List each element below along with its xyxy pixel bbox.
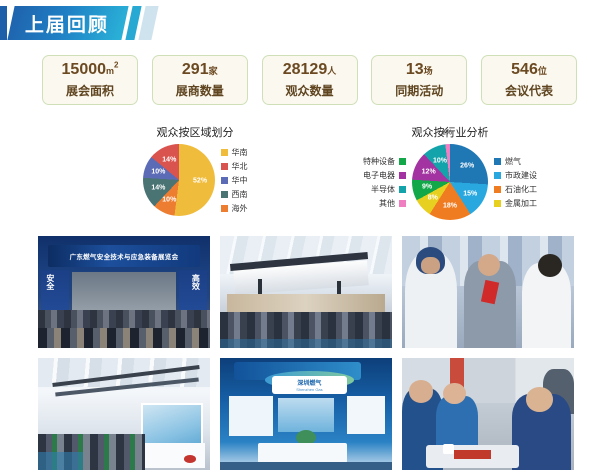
- photo-gallery: 广东燃气安全技术与应急装备展览会 安全 节 高效: [38, 236, 574, 470]
- pillar-text-right: 高效: [190, 274, 201, 290]
- legend-label: 其他: [379, 198, 395, 209]
- legend-label: 特种设备: [363, 156, 395, 167]
- legend-swatch-icon: [399, 200, 406, 207]
- chart-legend-right: 燃气市政建设石油化工金属加工: [494, 156, 537, 209]
- hall-carpet: [38, 452, 83, 470]
- stat-value: 15000m2: [62, 61, 119, 79]
- stat-value: 546位: [511, 61, 547, 79]
- chart-legend-left: 特种设备电子电器半导体其他: [363, 156, 406, 209]
- page-title: 上届回顾: [25, 10, 109, 37]
- booth-brand-sign: 深圳燃气 Shenzhen Gas: [272, 376, 348, 394]
- chart-legend: 华南华北华中西南海外: [221, 147, 248, 214]
- charts-section: 观众按区域划分 52%10%14%10%14% 华南华北华中西南海外 观众按行业…: [0, 124, 612, 232]
- legend-label: 燃气: [505, 156, 521, 167]
- legend-swatch-icon: [221, 163, 228, 170]
- booth-counter: [139, 443, 204, 468]
- stat-label: 同期活动: [395, 82, 443, 99]
- hall-carpet: [220, 339, 392, 348]
- legend-swatch-icon: [221, 205, 228, 212]
- stats-row: 15000m2 展会面积 291家 展商数量 28129人 观众数量 13场 同…: [42, 55, 577, 105]
- legend-item[interactable]: 电子电器: [363, 170, 406, 181]
- stat-value: 13场: [406, 61, 433, 79]
- photo-business-meeting[interactable]: [402, 358, 574, 470]
- pie-slice-label: 15%: [463, 190, 477, 197]
- stat-label: 展会面积: [66, 82, 114, 99]
- legend-item[interactable]: 石油化工: [494, 184, 537, 195]
- pie-slice-label: 14%: [151, 184, 165, 191]
- legend-label: 电子电器: [363, 170, 395, 181]
- chart-body: 52%10%14%10%14% 华南华北华中西南海外: [100, 144, 290, 216]
- legend-item[interactable]: 华南: [221, 147, 248, 158]
- entrance-banner: 广东燃气安全技术与应急装备展览会: [48, 245, 199, 267]
- stat-unit: 家: [209, 66, 218, 76]
- legend-item[interactable]: 华北: [221, 161, 248, 172]
- legend-swatch-icon: [399, 158, 406, 165]
- stat-label: 观众数量: [285, 82, 333, 99]
- legend-item[interactable]: 特种设备: [363, 156, 406, 167]
- photo-hall-truss-booth[interactable]: [220, 236, 392, 348]
- header-title-plate: 上届回顾: [7, 6, 128, 40]
- stat-card-exhibition-area: 15000m2 展会面积: [42, 55, 138, 105]
- legend-swatch-icon: [221, 177, 228, 184]
- meeting-brochure: [454, 450, 492, 459]
- photo-visitors-talking[interactable]: [402, 236, 574, 348]
- legend-label: 华中: [232, 175, 248, 186]
- legend-item[interactable]: 其他: [379, 198, 406, 209]
- legend-item[interactable]: 华中: [221, 175, 248, 186]
- legend-swatch-icon: [221, 191, 228, 198]
- pie-chart: 26%15%18%8%9%12%10%2%: [412, 144, 488, 220]
- stat-label: 展商数量: [176, 82, 224, 99]
- photo-bright-hall-booth[interactable]: [38, 358, 210, 470]
- legend-label: 金属加工: [505, 198, 537, 209]
- legend-item[interactable]: 海外: [221, 203, 248, 214]
- stat-label: 会议代表: [505, 82, 553, 99]
- legend-label: 华南: [232, 147, 248, 158]
- pie-slice-label: 18%: [443, 202, 457, 209]
- stat-card-exhibitors: 291家 展商数量: [152, 55, 248, 105]
- legend-swatch-icon: [494, 158, 501, 165]
- legend-item[interactable]: 市政建设: [494, 170, 537, 181]
- stat-card-delegates: 546位 会议代表: [481, 55, 577, 105]
- visitor-face-1: [421, 257, 440, 274]
- stat-unit: 位: [538, 66, 547, 76]
- booth-reception-counter: [258, 443, 347, 463]
- meeting-cup: [443, 444, 453, 454]
- pillar-text-left: 安全: [45, 274, 56, 290]
- pie-slice-label: 9%: [422, 184, 432, 191]
- page-header: 上届回顾: [0, 6, 155, 40]
- pie-slice-label: 26%: [460, 162, 474, 169]
- legend-item[interactable]: 西南: [221, 189, 248, 200]
- pie-slice-label: 14%: [162, 157, 176, 164]
- meeting-face-2: [443, 383, 465, 404]
- legend-item[interactable]: 燃气: [494, 156, 537, 167]
- legend-label: 西南: [232, 189, 248, 200]
- legend-swatch-icon: [494, 186, 501, 193]
- meeting-face-1: [409, 380, 433, 402]
- meeting-face-3: [526, 387, 554, 412]
- stat-card-events: 13场 同期活动: [371, 55, 467, 105]
- stat-unit: 场: [424, 66, 433, 76]
- entrance-banner-text: 广东燃气安全技术与应急装备展览会: [70, 251, 179, 261]
- legend-swatch-icon: [399, 186, 406, 193]
- booth-floor: [220, 462, 392, 470]
- legend-label: 石油化工: [505, 184, 537, 195]
- legend-item[interactable]: 金属加工: [494, 198, 537, 209]
- entrance-crowd-front: [38, 328, 210, 348]
- photo-exhibition-entrance[interactable]: 广东燃气安全技术与应急装备展览会 安全 节 高效: [38, 236, 210, 348]
- stat-value: 291家: [182, 61, 218, 79]
- chart-visitors-by-region: 观众按区域划分 52%10%14%10%14% 华南华北华中西南海外: [100, 124, 290, 216]
- legend-label: 海外: [232, 203, 248, 214]
- legend-label: 华北: [232, 161, 248, 172]
- chart-body: 特种设备电子电器半导体其他 26%15%18%8%9%12%10%2% 燃气市政…: [300, 144, 600, 220]
- stat-unit: 人: [327, 66, 336, 76]
- pie-slice-label: 10%: [162, 196, 176, 203]
- stat-unit-sup: 2: [114, 61, 118, 70]
- pie-slice-label: 10%: [151, 169, 165, 176]
- legend-label: 半导体: [371, 184, 395, 195]
- chart-title: 观众按区域划分: [100, 124, 290, 140]
- pie-slice-label: 10%: [433, 157, 447, 164]
- booth-panel-right: [347, 396, 385, 434]
- chart-visitors-by-industry: 观众按行业分析 特种设备电子电器半导体其他 26%15%18%8%9%12%10…: [300, 124, 600, 220]
- pie-slice-label: 8%: [428, 195, 438, 202]
- booth-panel-center: [278, 398, 333, 432]
- legend-swatch-icon: [221, 149, 228, 156]
- legend-swatch-icon: [399, 172, 406, 179]
- pie-chart: 52%10%14%10%14%: [143, 144, 215, 216]
- photo-shenzhen-gas-booth[interactable]: 深圳燃气 Shenzhen Gas: [220, 358, 392, 470]
- stat-card-visitors: 28129人 观众数量: [262, 55, 358, 105]
- booth-panel-left: [229, 396, 274, 436]
- pie-slice-label: 52%: [193, 178, 207, 185]
- stat-value: 28129人: [283, 61, 337, 79]
- booth-brand-name: 深圳燃气: [297, 378, 321, 387]
- legend-swatch-icon: [494, 172, 501, 179]
- legend-item[interactable]: 半导体: [371, 184, 406, 195]
- pie-slice-label: 2%: [442, 130, 452, 137]
- header-slash-secondary: [138, 6, 158, 40]
- legend-label: 市政建设: [505, 170, 537, 181]
- legend-swatch-icon: [494, 200, 501, 207]
- pie-slice-label: 12%: [422, 168, 436, 175]
- header-accent-bar: [0, 6, 7, 40]
- stat-unit: m: [106, 66, 114, 76]
- booth-brand-name-en: Shenzhen Gas: [296, 387, 322, 392]
